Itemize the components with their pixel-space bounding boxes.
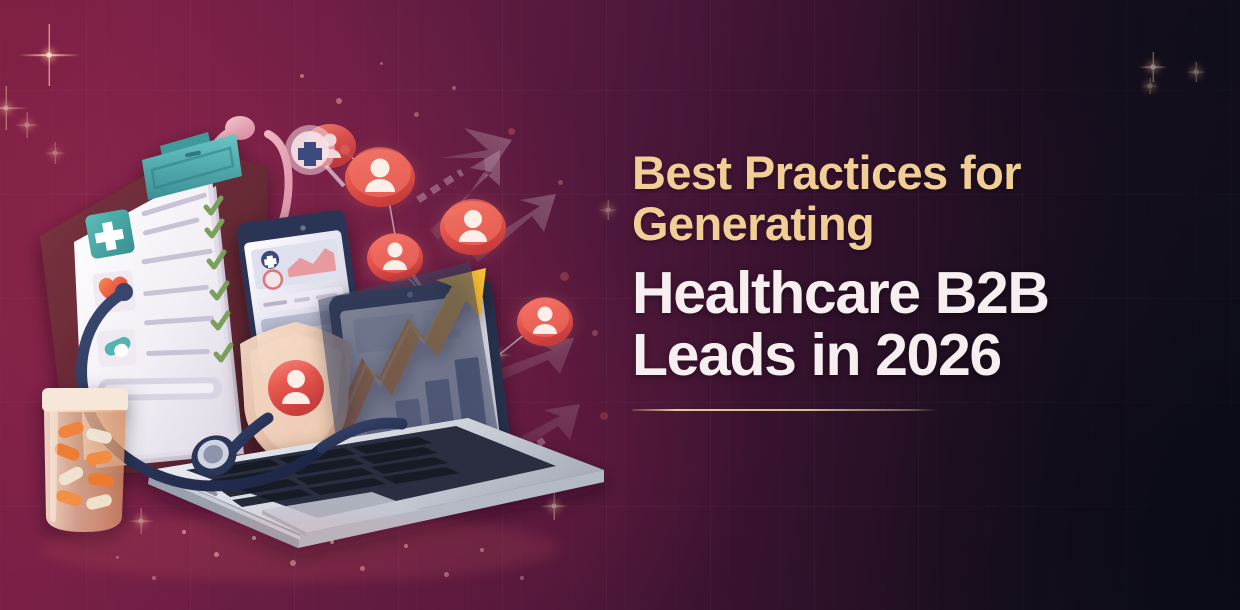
headline-divider-rule: [632, 409, 937, 411]
headline-eyebrow: Best Practices for Generating: [632, 148, 1198, 250]
headline-title: Healthcare B2B Leads in 2026: [632, 262, 1198, 387]
headline-eyebrow-line-2: Generating: [632, 199, 1198, 250]
hero-banner: Best Practices for Generating Healthcare…: [0, 0, 1240, 610]
app-gauge-icon: [263, 269, 283, 289]
illustration: [0, 0, 620, 610]
stethoscope-chestpiece: [115, 283, 133, 301]
headline-eyebrow-line-1: Best Practices for: [632, 148, 1198, 199]
user-icon: [464, 210, 482, 228]
headline-block: Best Practices for Generating Healthcare…: [632, 148, 1198, 411]
pill-bottle: [42, 388, 128, 532]
user-icon: [287, 370, 305, 388]
user-network-node: [509, 292, 581, 352]
user-icon: [371, 159, 390, 178]
medical-cross-icon: [85, 209, 136, 260]
user-icon: [388, 243, 403, 258]
pills-icon: [97, 329, 137, 368]
headline-title-line-2: Leads in 2026: [632, 324, 1198, 387]
headline-title-line-1: Healthcare B2B: [632, 262, 1198, 325]
user-network-node: [431, 194, 515, 262]
user-icon: [538, 307, 553, 322]
